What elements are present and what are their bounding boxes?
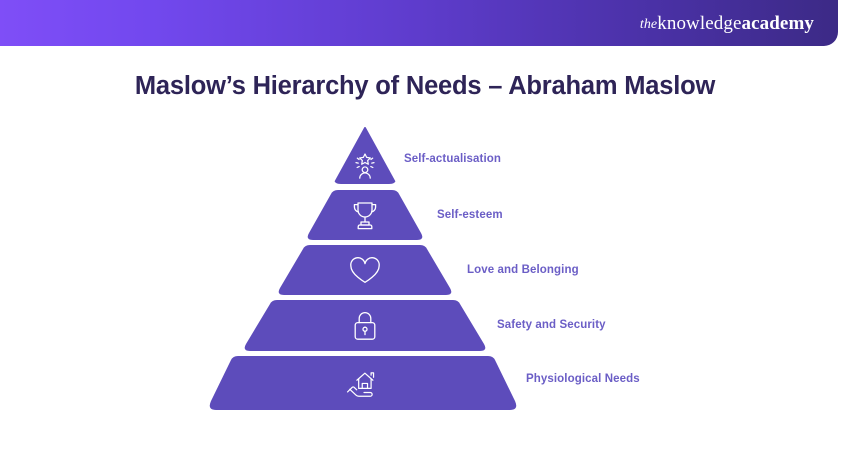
brand-academy-text: academy — [742, 13, 814, 34]
pyramid-label-self-actualisation: Self-actualisation — [404, 153, 501, 165]
tier-shape-trapezoid — [274, 245, 456, 296]
brand-knowledge-text: knowledge — [657, 13, 741, 34]
pyramid-tier-safety-and-security[interactable] — [240, 300, 490, 352]
tier-shape-trapezoid — [205, 356, 521, 411]
pyramid-label-love-and-belonging: Love and Belonging — [467, 264, 579, 276]
header-bar: theknowledgeacademy — [0, 0, 838, 46]
page-title: Maslow’s Hierarchy of Needs – Abraham Ma… — [0, 72, 850, 101]
brand-logo[interactable]: theknowledgeacademy — [640, 14, 814, 33]
pyramid-label-safety-and-security: Safety and Security — [497, 319, 606, 331]
pyramid-tier-love-and-belonging[interactable] — [274, 245, 456, 296]
pyramid-label-physiological-needs: Physiological Needs — [526, 373, 640, 385]
tier-shape-trapezoid — [240, 300, 490, 352]
pyramid-label-self-esteem: Self-esteem — [437, 209, 503, 221]
pyramid-tier-self-esteem[interactable] — [303, 190, 427, 241]
tier-shape-trapezoid — [303, 190, 427, 241]
pyramid-tier-self-actualisation[interactable] — [332, 126, 398, 186]
tier-shape-triangle — [332, 126, 398, 186]
brand-the-text: the — [640, 17, 657, 32]
maslow-pyramid-diagram: Self-actualisation Self-esteem — [0, 126, 850, 411]
pyramid-tier-physiological-needs[interactable] — [205, 356, 521, 411]
